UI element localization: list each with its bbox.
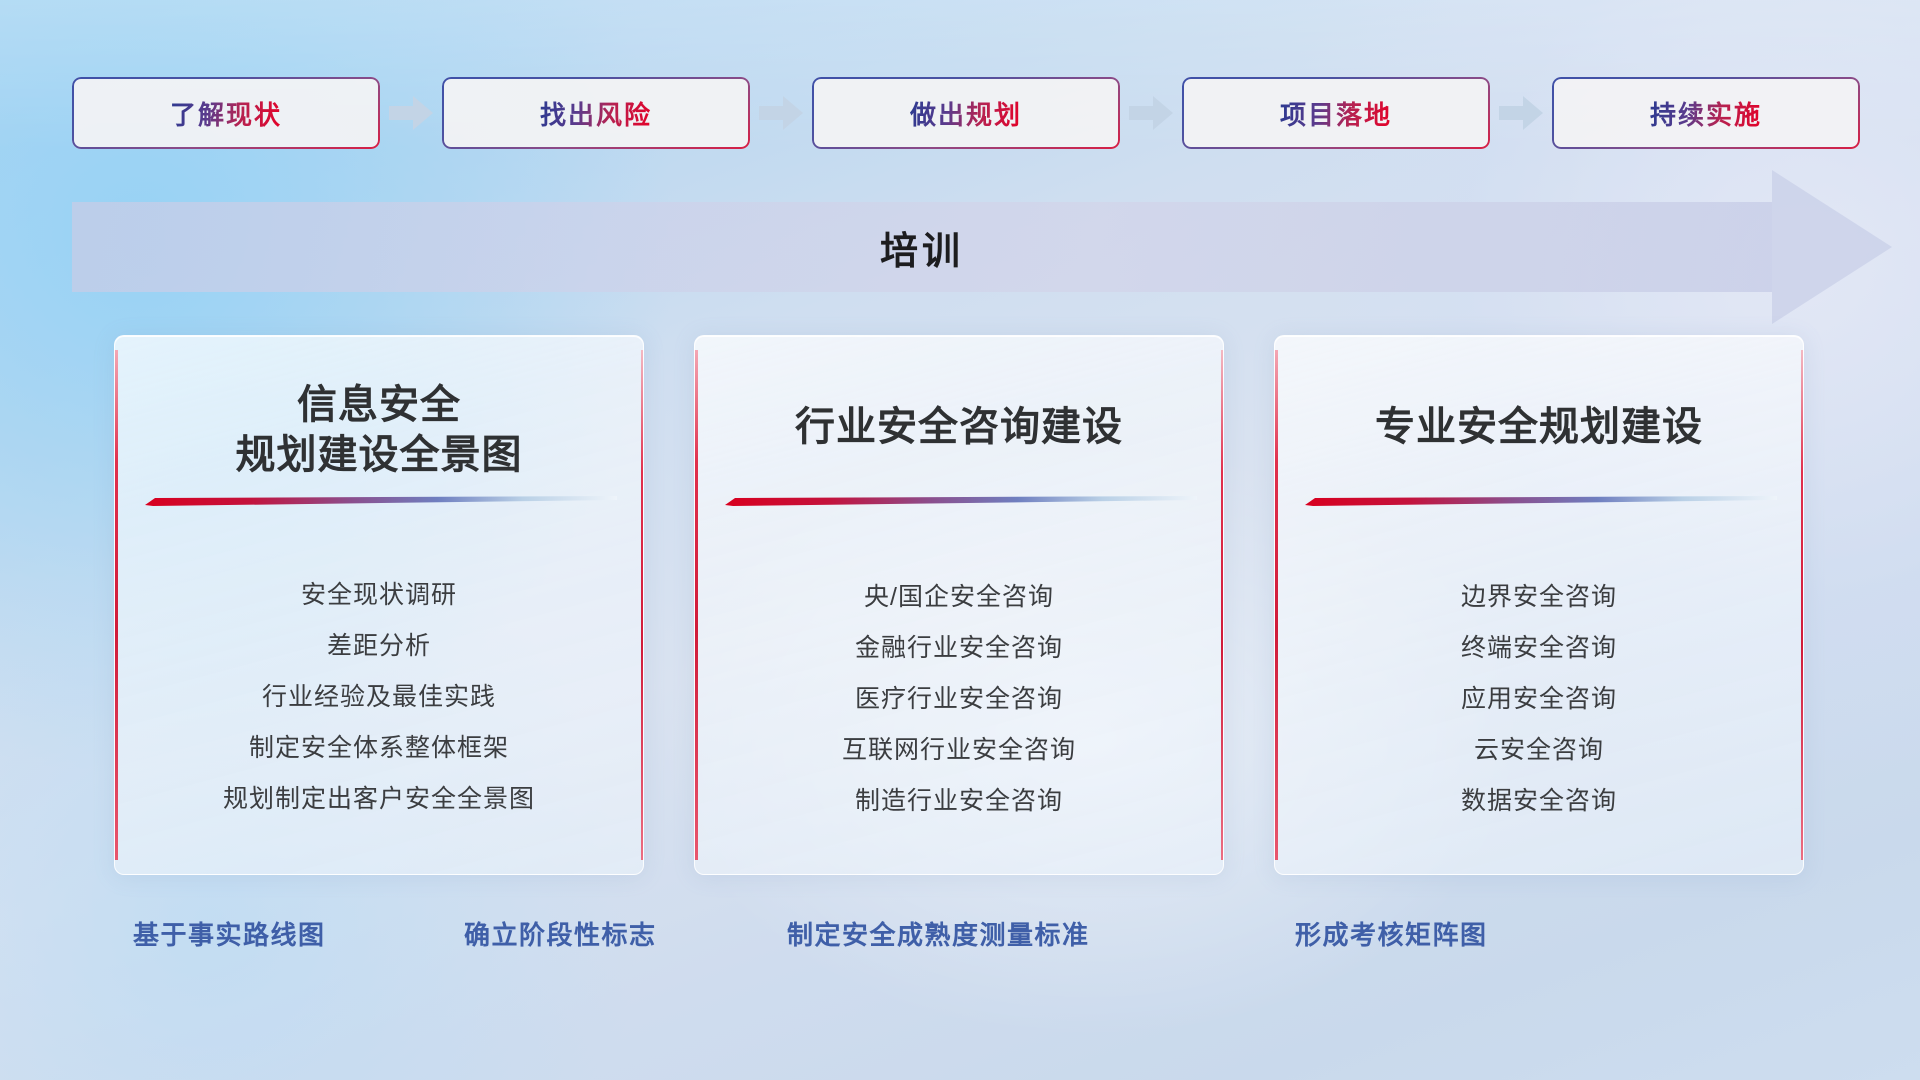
card-industry-security-consulting[interactable]: 行业安全咨询建设 央/国企安全咨询 金融行业安全咨询 [694,335,1224,875]
training-banner-arrowhead [1772,170,1892,324]
process-step-4[interactable]: 项目落地 [1182,77,1490,149]
process-step-1[interactable]: 了解现状 [72,77,380,149]
process-step-label: 项目落地 [1280,95,1392,132]
card-title: 信息安全 规划建设全景图 [236,380,523,480]
arrow-right-icon [1120,77,1182,149]
training-banner-title: 培训 [72,202,1772,292]
process-step-5[interactable]: 持续实施 [1552,77,1860,149]
caption-maturity-standard: 制定安全成熟度测量标准 [787,915,1090,952]
arrow-right-icon [750,77,812,149]
process-step-3[interactable]: 做出规划 [812,77,1120,149]
card-information-security-blueprint[interactable]: 信息安全 规划建设全景图 安全现状调研 差距分析 [114,335,644,875]
caption-roadmap: 基于事实路线图 [133,915,326,952]
process-step-label: 持续实施 [1650,95,1762,132]
process-step-flow: 了解现状 找出风险 做出规划 项目落地 持续实施 [72,77,1862,149]
caption-milestones: 确立阶段性标志 [464,915,657,952]
arrow-right-icon [380,77,442,149]
card-title: 行业安全咨询建设 [795,402,1123,452]
card-group: 信息安全 规划建设全景图 安全现状调研 差距分析 [114,335,1804,875]
card-title: 专业安全规划建设 [1375,402,1703,452]
training-banner: 培训 [72,202,1862,292]
process-step-label: 找出风险 [540,95,652,132]
process-step-label: 了解现状 [170,95,282,132]
process-step-2[interactable]: 找出风险 [442,77,750,149]
card-professional-security-planning[interactable]: 专业安全规划建设 边界安全咨询 终端安全咨询 [1274,335,1804,875]
caption-assessment-matrix: 形成考核矩阵图 [1295,915,1488,952]
process-step-label: 做出规划 [910,95,1022,132]
caption-row: 基于事实路线图 确立阶段性标志 制定安全成熟度测量标准 形成考核矩阵图 [0,915,1920,965]
arrow-right-icon [1490,77,1552,149]
